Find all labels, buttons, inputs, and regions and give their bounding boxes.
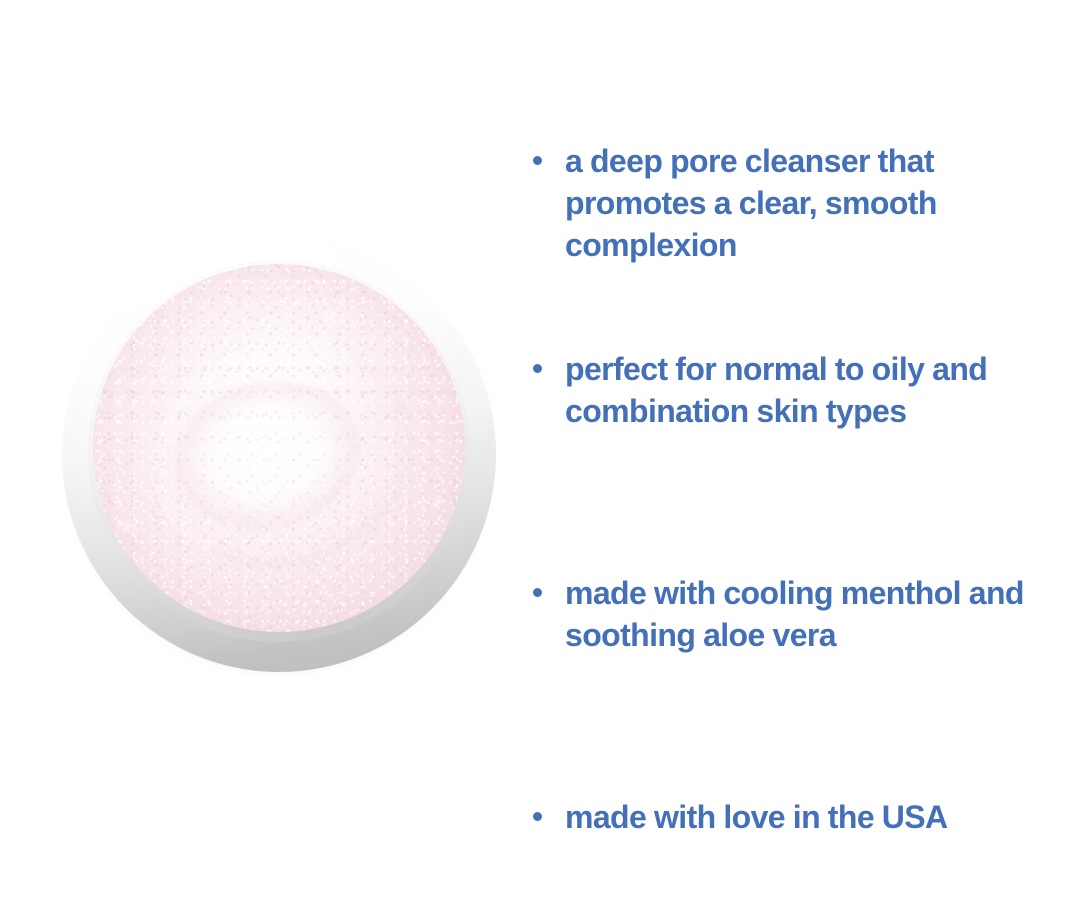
feature-text: made with love in the USA — [565, 796, 1069, 838]
feature-text: made with cooling menthol and soothing a… — [565, 572, 1069, 656]
list-item: made with cooling menthol and soothing a… — [533, 572, 1069, 656]
list-item: perfect for normal to oily and combinati… — [533, 348, 1069, 432]
bullet-icon — [533, 588, 542, 597]
product-powder-image — [62, 236, 496, 672]
cleansing-powder — [93, 264, 465, 632]
powder-edge-shading — [93, 264, 465, 632]
list-item: a deep pore cleanser that promotes a cle… — [533, 140, 1069, 266]
list-item: made with love in the USA — [533, 796, 1069, 838]
feature-text: a deep pore cleanser that promotes a cle… — [565, 140, 1069, 266]
feature-bullet-list: a deep pore cleanser that promotes a cle… — [533, 140, 1069, 838]
bullet-icon — [533, 812, 542, 821]
feature-text: perfect for normal to oily and combinati… — [565, 348, 1069, 432]
product-feature-panel: a deep pore cleanser that promotes a cle… — [0, 0, 1069, 913]
bullet-icon — [533, 156, 542, 165]
bullet-icon — [533, 364, 542, 373]
